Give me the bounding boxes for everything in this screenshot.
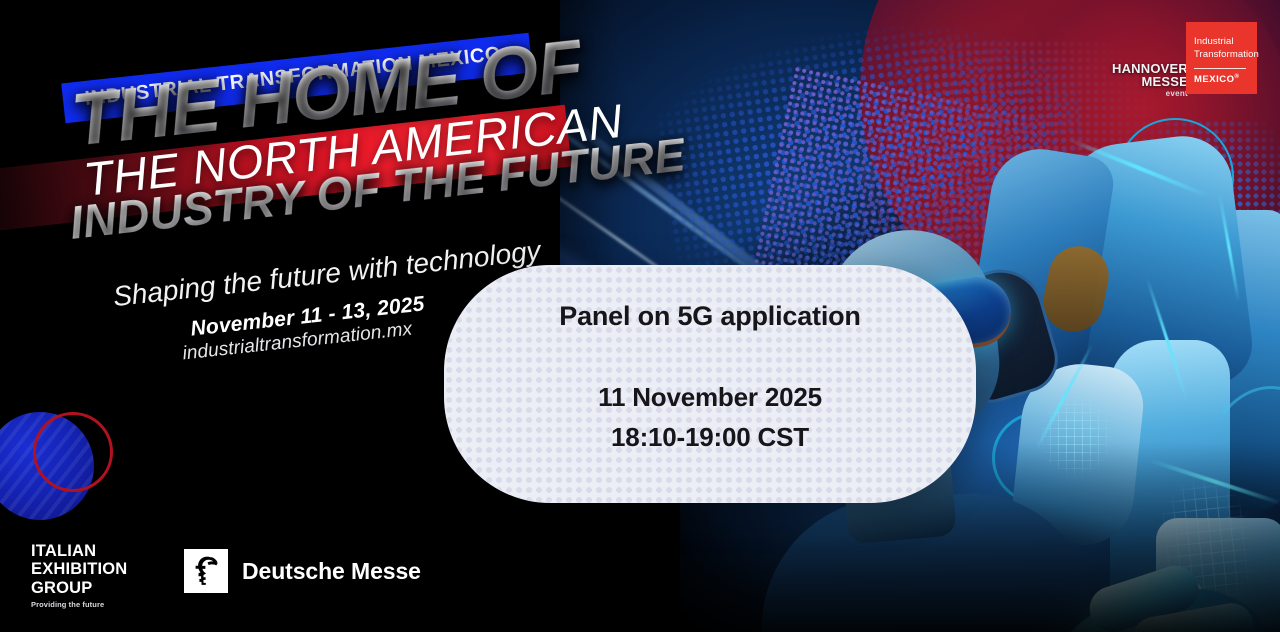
session-date: 11 November 2025	[598, 382, 822, 413]
industrial-transformation-mexico-logo: Industrial Transformation MEXICO®	[1186, 22, 1257, 94]
session-info-panel: Panel on 5G application 11 November 2025…	[444, 265, 976, 503]
ieg-tagline: Providing the future	[31, 600, 171, 609]
ieg-line3: GROUP	[31, 579, 171, 597]
deutsche-messe-logo: Deutsche Messe	[184, 549, 421, 593]
promo-banner-stage: INDUSTRIAL TRANSFORMATION MEXICO THE HOM…	[0, 0, 1280, 632]
itm-logo-line1: Industrial	[1194, 36, 1257, 49]
session-title: Panel on 5G application	[559, 301, 860, 332]
deutsche-messe-name: Deutsche Messe	[242, 558, 421, 585]
hannover-messe-line2: MESSE	[1112, 75, 1188, 88]
itm-logo-country: MEXICO®	[1194, 74, 1257, 85]
italian-exhibition-group-logo: ITALIAN EXHIBITION GROUP Providing the f…	[31, 542, 171, 609]
itm-logo-divider	[1194, 68, 1246, 69]
red-ring-decoration-icon	[33, 412, 113, 492]
session-time: 18:10-19:00 CST	[611, 422, 809, 453]
hannover-messe-sublabel: event	[1112, 90, 1188, 98]
hannover-messe-logo: HANNOVER MESSE 2 event	[1112, 62, 1188, 96]
itm-logo-line2: Transformation	[1194, 49, 1257, 62]
ieg-line1: ITALIAN	[31, 542, 171, 560]
ieg-line2: EXHIBITION	[31, 560, 171, 578]
itm-country-text: MEXICO	[1194, 74, 1234, 85]
head-profile-icon	[184, 549, 228, 593]
itm-registered-mark: ®	[1234, 74, 1239, 80]
